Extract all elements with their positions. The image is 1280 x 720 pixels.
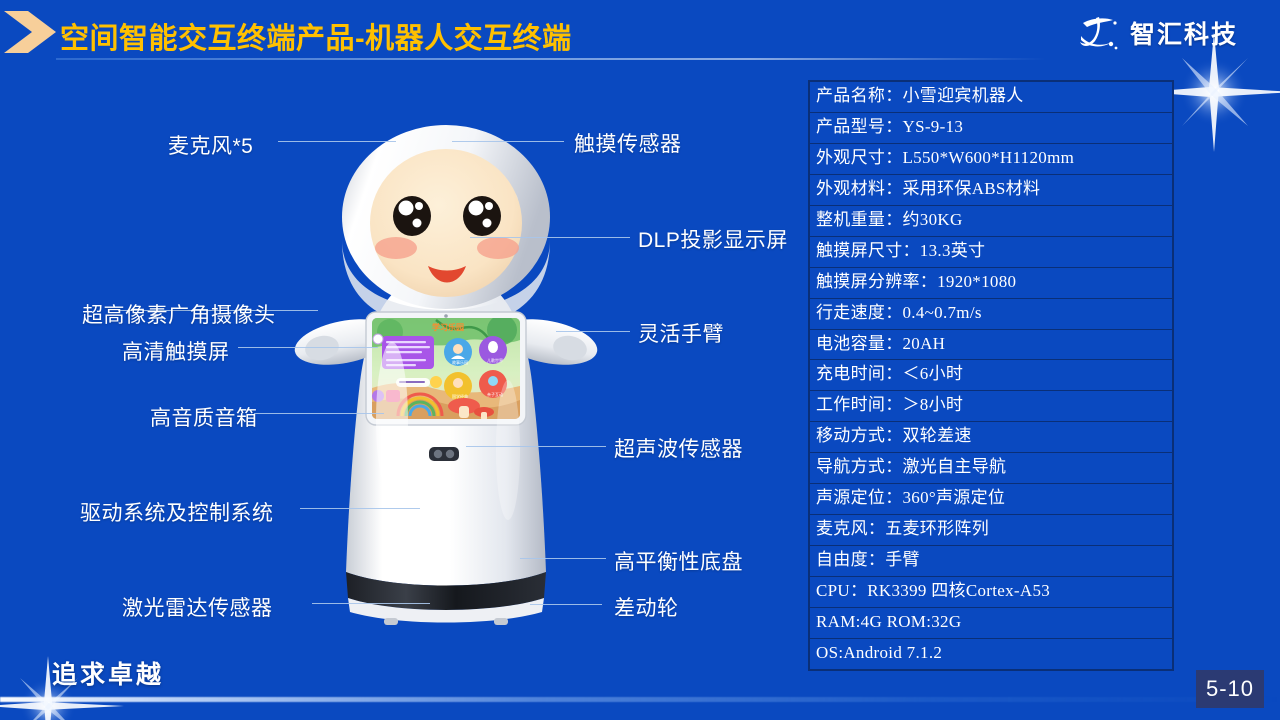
- callout-ultrasonic-sensor: 超声波传感器: [614, 433, 743, 463]
- leader-line: [466, 446, 606, 447]
- footer-motto: 追求卓越: [52, 655, 164, 691]
- callout-speaker: 高音质音箱: [150, 402, 258, 432]
- specification-table-body: 产品名称：小雪迎宾机器人 产品型号：YS-9-13 外观尺寸：L550*W600…: [809, 81, 1173, 670]
- table-row: 外观材料：采用环保ABS材料: [809, 174, 1173, 205]
- table-row: 麦克风：五麦环形阵列: [809, 515, 1173, 546]
- table-row: 行走速度：0.4~0.7m/s: [809, 298, 1173, 329]
- table-row: 产品名称：小雪迎宾机器人: [809, 81, 1173, 112]
- callout-hd-touchscreen: 高清触摸屏: [122, 336, 230, 366]
- spec-cell: 电池容量：20AH: [809, 329, 1173, 360]
- logo-text: 智汇科技: [1130, 15, 1238, 51]
- spec-cell: 产品型号：YS-9-13: [809, 112, 1173, 143]
- footer-light-bar: [0, 697, 1280, 702]
- callout-lidar-sensor: 激光雷达传感器: [122, 592, 273, 622]
- leader-line: [254, 413, 384, 414]
- callout-flexible-arm: 灵活手臂: [638, 318, 724, 348]
- spec-cell: 外观材料：采用环保ABS材料: [809, 174, 1173, 205]
- callout-balanced-chassis: 高平衡性底盘: [614, 546, 743, 576]
- spec-cell: 自由度：手臂: [809, 546, 1173, 577]
- spec-cell: 整机重量：约30KG: [809, 205, 1173, 236]
- table-row: 充电时间：＜6小时: [809, 360, 1173, 391]
- table-row: OS:Android 7.1.2: [809, 638, 1173, 669]
- spec-cell: 充电时间：＜6小时: [809, 360, 1173, 391]
- leader-line: [470, 237, 630, 238]
- callout-wide-angle-camera: 超高像素广角摄像头: [82, 299, 276, 329]
- table-row: RAM:4G ROM:32G: [809, 607, 1173, 638]
- spec-cell: 触摸屏尺寸：13.3英寸: [809, 236, 1173, 267]
- table-row: 外观尺寸：L550*W600*H1120mm: [809, 143, 1173, 174]
- leader-line: [556, 331, 630, 332]
- brand-logo: 智汇科技: [1075, 14, 1238, 52]
- table-row: 自由度：手臂: [809, 546, 1173, 577]
- table-row: 整机重量：约30KG: [809, 205, 1173, 236]
- callout-dlp-projector-display: DLP投影显示屏: [638, 224, 788, 254]
- svg-text:故事乐园: 故事乐园: [452, 359, 468, 365]
- page-title: 空间智能交互终端产品-机器人交互终端: [60, 15, 572, 57]
- leader-line: [278, 141, 396, 142]
- slide: 空间智能交互终端产品-机器人交互终端 智汇科技: [0, 0, 1280, 720]
- spec-cell: 触摸屏分辨率：1920*1080: [809, 267, 1173, 298]
- spec-cell: OS:Android 7.1.2: [809, 638, 1173, 669]
- spec-cell: 工作时间：＞8小时: [809, 391, 1173, 422]
- leader-line: [452, 141, 564, 142]
- page-number-badge: 5-10: [1196, 670, 1264, 708]
- callout-microphone: 麦克风*5: [168, 130, 253, 160]
- table-row: CPU：RK3399 四核Cortex-A53: [809, 577, 1173, 608]
- spec-cell: CPU：RK3399 四核Cortex-A53: [809, 577, 1173, 608]
- leader-line: [300, 508, 420, 509]
- chevron-right-icon: [2, 9, 58, 55]
- spec-cell: 外观尺寸：L550*W600*H1120mm: [809, 143, 1173, 174]
- spec-cell: 麦克风：五麦环形阵列: [809, 515, 1173, 546]
- spec-cell: 导航方式：激光自主导航: [809, 453, 1173, 484]
- leader-line: [530, 604, 602, 605]
- spec-cell: 移动方式：双轮差速: [809, 422, 1173, 453]
- page-number-text: 5-10: [1206, 676, 1254, 702]
- logo-mark-icon: [1075, 14, 1121, 52]
- callout-touch-sensor: 触摸传感器: [574, 128, 682, 158]
- callout-differential-wheel: 差动轮: [614, 592, 679, 622]
- leader-line: [312, 603, 430, 604]
- table-row: 工作时间：＞8小时: [809, 391, 1173, 422]
- title-underline: [56, 58, 1046, 60]
- table-row: 移动方式：双轮差速: [809, 422, 1173, 453]
- callout-drive-control-system: 驱动系统及控制系统: [80, 497, 274, 527]
- spec-cell: 声源定位：360°声源定位: [809, 484, 1173, 515]
- leader-line: [238, 347, 378, 348]
- table-row: 触摸屏尺寸：13.3英寸: [809, 236, 1173, 267]
- table-row: 产品型号：YS-9-13: [809, 112, 1173, 143]
- specification-table: 产品名称：小雪迎宾机器人 产品型号：YS-9-13 外观尺寸：L550*W600…: [808, 80, 1174, 671]
- leader-line: [520, 558, 606, 559]
- table-row: 触摸屏分辨率：1920*1080: [809, 267, 1173, 298]
- spec-cell: RAM:4G ROM:32G: [809, 607, 1173, 638]
- svg-text:儿歌世界: 儿歌世界: [487, 357, 503, 363]
- svg-text:学习乐园: 学习乐园: [432, 322, 464, 332]
- table-row: 电池容量：20AH: [809, 329, 1173, 360]
- table-row: 声源定位：360°声源定位: [809, 484, 1173, 515]
- robot-illustration: 学习乐园 故事乐园 儿歌世界 国学经典: [286, 120, 606, 640]
- spec-cell: 行走速度：0.4~0.7m/s: [809, 298, 1173, 329]
- spec-cell: 产品名称：小雪迎宾机器人: [809, 81, 1173, 112]
- header: 空间智能交互终端产品-机器人交互终端 智汇科技: [0, 0, 1280, 66]
- table-row: 导航方式：激光自主导航: [809, 453, 1173, 484]
